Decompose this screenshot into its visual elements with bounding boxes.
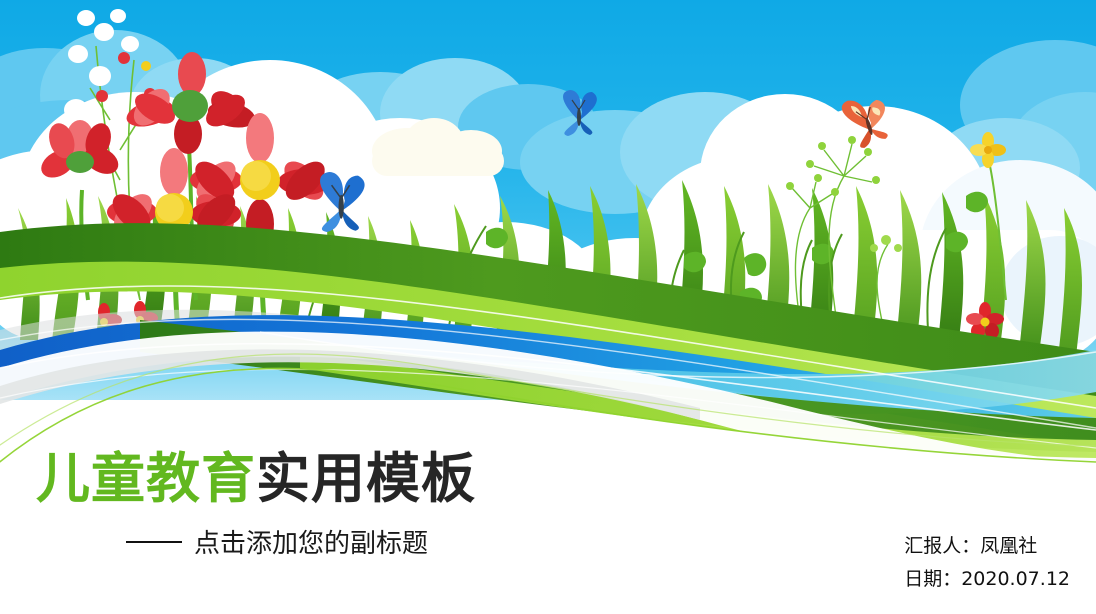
- presentation-slide: 儿童教育实用模板 点击添加您的副标题 汇报人：凤凰社 日期：2020.07.12: [0, 0, 1096, 614]
- subtitle-text: 点击添加您的副标题: [194, 523, 428, 560]
- presenter-line: 汇报人：凤凰社: [904, 530, 1070, 563]
- page-subtitle: 点击添加您的副标题: [126, 523, 428, 560]
- slide-meta: 汇报人：凤凰社 日期：2020.07.12: [904, 530, 1070, 597]
- title-highlight: 儿童教育: [36, 447, 256, 510]
- date-line: 日期：2020.07.12: [904, 563, 1070, 596]
- page-title: 儿童教育实用模板: [36, 452, 476, 506]
- subtitle-dash-icon: [126, 541, 182, 543]
- title-rest: 实用模板: [256, 447, 476, 510]
